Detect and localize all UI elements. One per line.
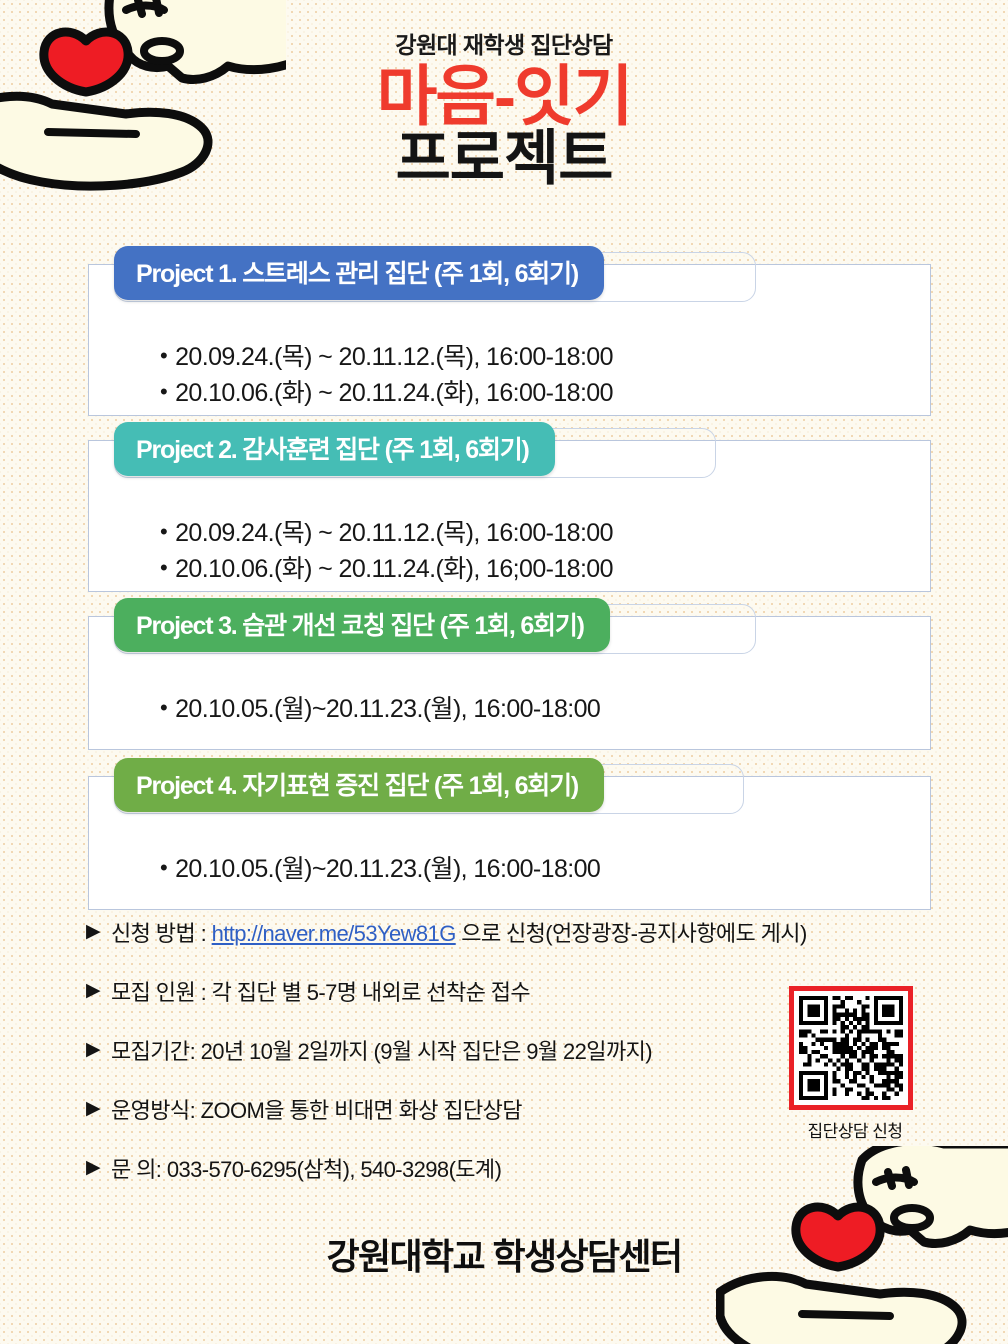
application-link[interactable]: http://naver.me/53Yew81G [212, 921, 456, 946]
bullet-dot: • [160, 692, 167, 723]
bullet-dot: • [160, 340, 167, 371]
project-sessions-4: •20.10.05.(월)~20.11.23.(월), 16:00-18:00 [88, 812, 931, 912]
session-line: •20.09.24.(목) ~ 20.11.12.(목), 16:00-18:0… [160, 340, 931, 376]
project-header-3: Project 3. 습관 개선 코칭 집단 (주 1회, 6회기) [114, 598, 610, 652]
qr-code-image[interactable] [799, 996, 903, 1100]
info-list: ▶ 신청 방법 : http://naver.me/53Yew81G 으로 신청… [86, 918, 806, 1212]
project-sessions-3: •20.10.05.(월)~20.11.23.(월), 16:00-18:00 [88, 652, 931, 752]
poster-canvas: 강원대 재학생 집단상담 마음-잇기 프로젝트 Project 1. 스트레스 … [0, 0, 1008, 1344]
info-row-application-method: ▶ 신청 방법 : http://naver.me/53Yew81G 으로 신청… [86, 918, 806, 950]
session-line: •20.10.06.(화) ~ 20.11.24.(화), 16:00-18:0… [160, 376, 931, 412]
session-text: 20.09.24.(목) ~ 20.11.12.(목), 16:00-18:00 [175, 519, 613, 547]
session-text: 20.10.05.(월)~20.11.23.(월), 16:00-18:00 [175, 855, 600, 883]
bullet-dot: • [160, 376, 167, 407]
poster-footer: 강원대학교 학생상담센터 [0, 1228, 1008, 1280]
session-line: •20.09.24.(목) ~ 20.11.12.(목), 16:00-18:0… [160, 516, 931, 552]
session-line: •20.10.05.(월)~20.11.23.(월), 16:00-18:00 [160, 852, 931, 888]
project-card-1: Project 1. 스트레스 관리 집단 (주 1회, 6회기) •20.09… [88, 246, 931, 435]
session-text: 20.09.24.(목) ~ 20.11.12.(목), 16:00-18:00 [175, 343, 613, 371]
bullet-dot: • [160, 516, 167, 547]
poster-kicker: 강원대 재학생 집단상담 [0, 26, 1008, 60]
info-text: 모집 인원 : 각 집단 별 5-7명 내외로 선착순 접수 [111, 977, 530, 1009]
arrow-icon: ▶ [86, 1095, 100, 1123]
arrow-icon: ▶ [86, 977, 100, 1005]
qr-caption: 집단상담 신청 [789, 1117, 921, 1142]
info-row-capacity: ▶ 모집 인원 : 각 집단 별 5-7명 내외로 선착순 접수 [86, 977, 806, 1009]
project-card-4: Project 4. 자기표현 증진 집단 (주 1회, 6회기) •20.10… [88, 758, 931, 912]
arrow-icon: ▶ [86, 1036, 100, 1064]
info-text: 운영방식: ZOOM을 통한 비대면 화상 집단상담 [111, 1095, 522, 1127]
project-card-3: Project 3. 습관 개선 코칭 집단 (주 1회, 6회기) •20.1… [88, 598, 931, 752]
info-text: 모집기간: 20년 10월 2일까지 (9월 시작 집단은 9월 22일까지) [111, 1036, 652, 1068]
bullet-dot: • [160, 852, 167, 883]
project-header-4: Project 4. 자기표현 증진 집단 (주 1회, 6회기) [114, 758, 604, 812]
qr-code-frame[interactable] [789, 986, 913, 1110]
session-line: •20.10.05.(월)~20.11.23.(월), 16:00-18:00 [160, 692, 931, 728]
session-text: 20.10.05.(월)~20.11.23.(월), 16:00-18:00 [175, 695, 600, 723]
project-header-2: Project 2. 감사훈련 집단 (주 1회, 6회기) [114, 422, 555, 476]
poster-title-main: 마음-잇기 [0, 62, 1008, 131]
project-card-2: Project 2. 감사훈련 집단 (주 1회, 6회기) •20.09.24… [88, 422, 931, 611]
arrow-icon: ▶ [86, 918, 100, 946]
title-block: 강원대 재학생 집단상담 마음-잇기 프로젝트 [0, 26, 1008, 190]
info-text: 문 의: 033-570-6295(삼척), 540-3298(도계) [111, 1154, 501, 1186]
poster-title-sub: 프로젝트 [0, 127, 1008, 190]
info-suffix: 으로 신청(언장광장-공지사항에도 게시) [456, 921, 807, 946]
project-sessions-1: •20.09.24.(목) ~ 20.11.12.(목), 16:00-18:0… [88, 300, 931, 435]
project-header-1: Project 1. 스트레스 관리 집단 (주 1회, 6회기) [114, 246, 604, 300]
info-text: 신청 방법 : http://naver.me/53Yew81G 으로 신청(언… [111, 918, 807, 950]
project-sessions-2: •20.09.24.(목) ~ 20.11.12.(목), 16:00-18:0… [88, 476, 931, 611]
session-line: •20.10.06.(화) ~ 20.11.24.(화), 16;00-18:0… [160, 552, 931, 588]
arrow-icon: ▶ [86, 1154, 100, 1182]
info-row-application-period: ▶ 모집기간: 20년 10월 2일까지 (9월 시작 집단은 9월 22일까지… [86, 1036, 806, 1068]
qr-block[interactable]: 집단상담 신청 [789, 986, 921, 1142]
info-label: 신청 방법 : [111, 921, 212, 946]
info-row-format: ▶ 운영방식: ZOOM을 통한 비대면 화상 집단상담 [86, 1095, 806, 1127]
bullet-dot: • [160, 552, 167, 583]
info-row-contact: ▶ 문 의: 033-570-6295(삼척), 540-3298(도계) [86, 1154, 806, 1186]
lower-hand-bottom-right [720, 1276, 962, 1344]
session-text: 20.10.06.(화) ~ 20.11.24.(화), 16;00-18:00 [175, 555, 613, 583]
session-text: 20.10.06.(화) ~ 20.11.24.(화), 16:00-18:00 [175, 379, 613, 407]
